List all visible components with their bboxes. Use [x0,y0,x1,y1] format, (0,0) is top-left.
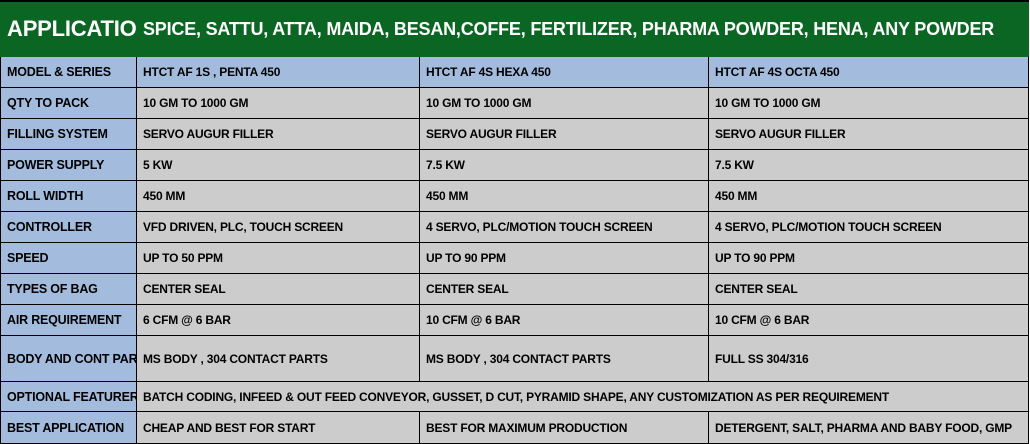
cell-air-requirement-col2: 10 CFM @ 6 BAR [420,305,709,336]
cell-power-supply-col1: 5 KW [137,150,420,181]
cell-filling-system-col3: SERVO AUGUR FILLER [709,119,1029,150]
machine-specification-sheet: APPLICATION SPICE, SATTU, ATTA, MAIDA, B… [0,0,1030,439]
cell-model-series-col3: HTCT AF 4S OCTA 450 [709,57,1029,88]
cell-roll-width-col3: 450 MM [709,181,1029,212]
row-label-controller: CONTROLLER [1,212,137,243]
cell-air-requirement-col3: 10 CFM @ 6 BAR [709,305,1029,336]
table-row: BODY AND CONT PARTS MS BODY , 304 CONTAC… [1,336,1029,382]
table-row: FILLING SYSTEM SERVO AUGUR FILLER SERVO … [1,119,1029,150]
row-label-filling-system: FILLING SYSTEM [1,119,137,150]
cell-model-series-col2: HTCT AF 4S HEXA 450 [420,57,709,88]
specification-table: APPLICATION SPICE, SATTU, ATTA, MAIDA, B… [0,0,1029,444]
cell-speed-col2: UP TO 90 PPM [420,243,709,274]
cell-speed-col1: UP TO 50 PPM [137,243,420,274]
cell-qty-to-pack-col3: 10 GM TO 1000 GM [709,88,1029,119]
cell-types-of-bag-col2: CENTER SEAL [420,274,709,305]
row-label-power-supply: POWER SUPPLY [1,150,137,181]
cell-power-supply-col2: 7.5 KW [420,150,709,181]
row-label-qty-to-pack: QTY TO PACK [1,88,137,119]
cell-filling-system-col2: SERVO AUGUR FILLER [420,119,709,150]
row-label-optional-featurer: OPTIONAL FEATURER [1,382,137,412]
application-value: SPICE, SATTU, ATTA, MAIDA, BESAN,COFFE, … [137,1,1029,57]
cell-roll-width-col2: 450 MM [420,181,709,212]
row-label-air-requirement: AIR REQUIREMENT [1,305,137,336]
table-row: TYPES OF BAG CENTER SEAL CENTER SEAL CEN… [1,274,1029,305]
table-row: QTY TO PACK 10 GM TO 1000 GM 10 GM TO 10… [1,88,1029,119]
table-row: CONTROLLER VFD DRIVEN, PLC, TOUCH SCREEN… [1,212,1029,243]
row-label-model-series: MODEL & SERIES [1,57,137,88]
row-label-body-and-cont-parts: BODY AND CONT PARTS [1,336,137,382]
cell-types-of-bag-col3: CENTER SEAL [709,274,1029,305]
row-label-roll-width: ROLL WIDTH [1,181,137,212]
cell-optional-featurer-all: BATCH CODING, INFEED & OUT FEED CONVEYOR… [137,382,1029,412]
row-label-types-of-bag: TYPES OF BAG [1,274,137,305]
cell-controller-col2: 4 SERVO, PLC/MOTION TOUCH SCREEN [420,212,709,243]
row-label-speed: SPEED [1,243,137,274]
table-row: OPTIONAL FEATURER BATCH CODING, INFEED &… [1,382,1029,412]
cell-roll-width-col1: 450 MM [137,181,420,212]
application-label: APPLICATION [1,1,137,57]
cell-controller-col1: VFD DRIVEN, PLC, TOUCH SCREEN [137,212,420,243]
table-row: POWER SUPPLY 5 KW 7.5 KW 7.5 KW [1,150,1029,181]
table-row: MODEL & SERIES HTCT AF 1S , PENTA 450 HT… [1,57,1029,88]
cell-qty-to-pack-col1: 10 GM TO 1000 GM [137,88,420,119]
table-row: ROLL WIDTH 450 MM 450 MM 450 MM [1,181,1029,212]
cell-qty-to-pack-col2: 10 GM TO 1000 GM [420,88,709,119]
cell-controller-col3: 4 SERVO, PLC/MOTION TOUCH SCREEN [709,212,1029,243]
table-header-row: APPLICATION SPICE, SATTU, ATTA, MAIDA, B… [1,1,1029,57]
cell-body-and-cont-parts-col2: MS BODY , 304 CONTACT PARTS [420,336,709,382]
table-row: SPEED UP TO 50 PPM UP TO 90 PPM UP TO 90… [1,243,1029,274]
cell-model-series-col1: HTCT AF 1S , PENTA 450 [137,57,420,88]
cell-power-supply-col3: 7.5 KW [709,150,1029,181]
cell-body-and-cont-parts-col3: FULL SS 304/316 [709,336,1029,382]
cell-body-and-cont-parts-col1: MS BODY , 304 CONTACT PARTS [137,336,420,382]
cell-types-of-bag-col1: CENTER SEAL [137,274,420,305]
table-row: AIR REQUIREMENT 6 CFM @ 6 BAR 10 CFM @ 6… [1,305,1029,336]
cell-speed-col3: UP TO 90 PPM [709,243,1029,274]
cell-filling-system-col1: SERVO AUGUR FILLER [137,119,420,150]
cell-air-requirement-col1: 6 CFM @ 6 BAR [137,305,420,336]
